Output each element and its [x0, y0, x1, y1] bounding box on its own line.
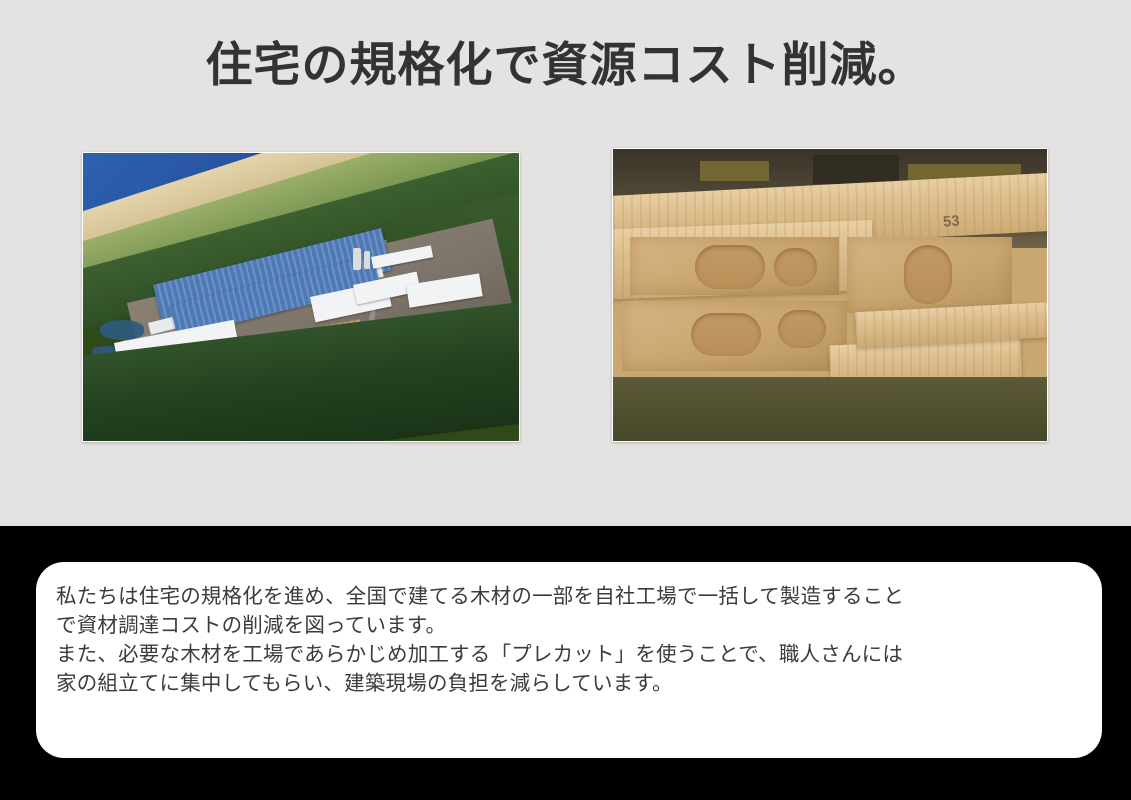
machine-frame-b	[700, 161, 769, 181]
description-card: 私たちは住宅の規格化を進め、全国で建てる木材の一部を自社工場で一括して製造するこ…	[36, 562, 1102, 758]
page-title: 住宅の規格化で資源コスト削減。	[0, 38, 1131, 92]
beam-notch-lower-1	[691, 313, 760, 357]
machine-frame-a	[813, 155, 900, 184]
precut-timber-photo: 53	[612, 148, 1048, 442]
top-panel: 住宅の規格化で資源コスト削減。	[0, 0, 1131, 526]
precut-timber-photo-content: 53	[613, 149, 1047, 441]
silo-tower-2	[364, 251, 370, 269]
slide-root: 住宅の規格化で資源コスト削減。	[0, 0, 1131, 800]
beam-notch-right	[904, 245, 952, 303]
timber-mark-53: 53	[942, 213, 960, 231]
aerial-factory-photo-content	[83, 153, 519, 441]
silo-tower	[353, 248, 361, 270]
beam-notch-upper-2	[774, 248, 817, 286]
beam-notch-lower-2	[778, 310, 826, 348]
aerial-factory-photo	[82, 152, 520, 442]
pond	[100, 320, 144, 340]
workshop-floor	[613, 377, 1047, 441]
beam-notch-upper-1	[695, 245, 764, 289]
description-text: 私たちは住宅の規格化を進め、全国で建てる木材の一部を自社工場で一括して製造するこ…	[56, 582, 1082, 698]
